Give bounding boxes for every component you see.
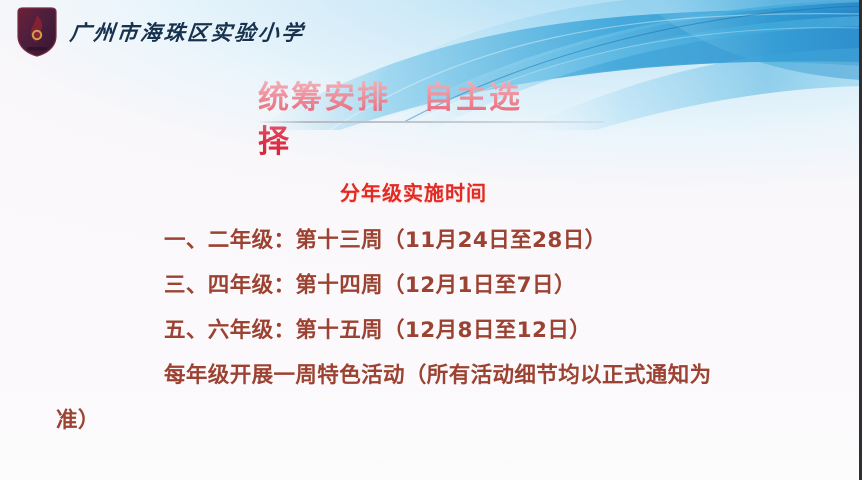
schedule-line: 一、二年级：第十三周（11月24日至28日） <box>56 218 799 263</box>
title-underline <box>260 121 604 123</box>
schedule-line: 五、六年级：第十五周（12月8日至12日） <box>56 308 799 353</box>
school-name: 广州市海珠区实验小学 <box>68 17 306 47</box>
note-line-primary: 每年级开展一周特色活动（所有活动细节均以正式通知为 <box>56 353 799 398</box>
presentation-slide: 广州市海珠区实验小学 统筹安排 自主选 择 分年级实施时间 一、二年级：第十三周… <box>0 0 862 480</box>
subtitle: 分年级实施时间 <box>340 177 487 206</box>
note-line-wrapped: 准） <box>56 398 799 443</box>
school-header: 广州市海珠区实验小学 <box>14 6 305 58</box>
title-block: 统筹安排 自主选 择 <box>258 76 608 164</box>
school-shield-emblem-icon <box>14 6 60 58</box>
schedule-list: 一、二年级：第十三周（11月24日至28日） 三、四年级：第十四周（12月1日至… <box>56 218 799 443</box>
schedule-line: 三、四年级：第十四周（12月1日至7日） <box>56 263 799 308</box>
